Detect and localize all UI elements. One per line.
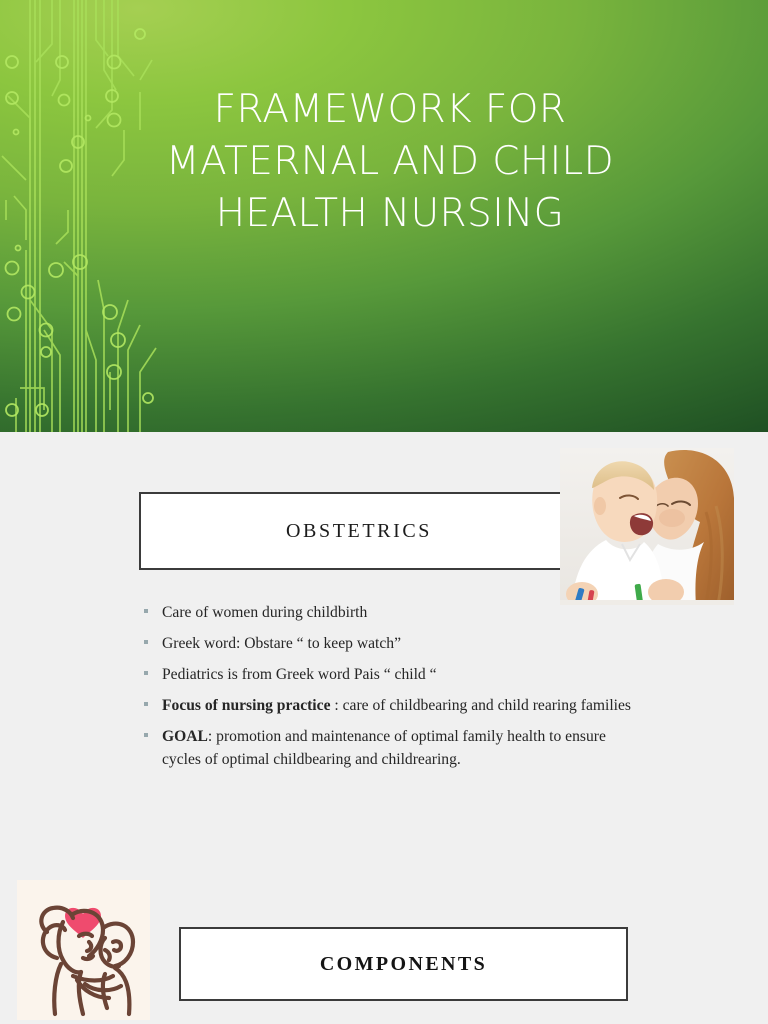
bullet-marker-icon xyxy=(144,702,148,706)
bullet-marker-icon xyxy=(144,609,148,613)
components-title-box: COMPONENTS xyxy=(179,927,628,1001)
obstetrics-title-box: OBSTETRICS xyxy=(139,492,579,570)
mother-child-logo-icon xyxy=(17,880,150,1020)
list-item: Care of women during childbirth xyxy=(140,601,640,624)
page-title: FRAMEWORK FOR MATERNAL AND CHILD HEALTH … xyxy=(150,84,630,240)
bullet-strong-text: Focus of nursing practice xyxy=(162,697,331,714)
title-slide: FRAMEWORK FOR MATERNAL AND CHILD HEALTH … xyxy=(0,0,768,432)
components-heading: COMPONENTS xyxy=(320,953,487,976)
mother-child-photo xyxy=(560,448,734,605)
list-item: GOAL: promotion and maintenance of optim… xyxy=(140,725,640,771)
bullet-text: : care of childbearing and child rearing… xyxy=(331,697,631,714)
list-item: Pediatrics is from Greek word Pais “ chi… xyxy=(140,663,640,686)
bullet-text: Greek word: Obstare “ to keep watch” xyxy=(162,635,401,652)
bullet-text: Care of women during childbirth xyxy=(162,604,367,621)
bullet-strong-text: GOAL xyxy=(162,728,208,745)
list-item: Greek word: Obstare “ to keep watch” xyxy=(140,632,640,655)
bullet-text: : promotion and maintenance of optimal f… xyxy=(162,728,606,768)
obstetrics-bullet-list: Care of women during childbirth Greek wo… xyxy=(140,601,640,771)
bullet-marker-icon xyxy=(144,671,148,675)
list-item: Focus of nursing practice : care of chil… xyxy=(140,694,640,717)
bullet-marker-icon xyxy=(144,733,148,737)
obstetrics-heading: OBSTETRICS xyxy=(286,520,432,543)
bullet-marker-icon xyxy=(144,640,148,644)
bullet-text: Pediatrics is from Greek word Pais “ chi… xyxy=(162,666,437,683)
